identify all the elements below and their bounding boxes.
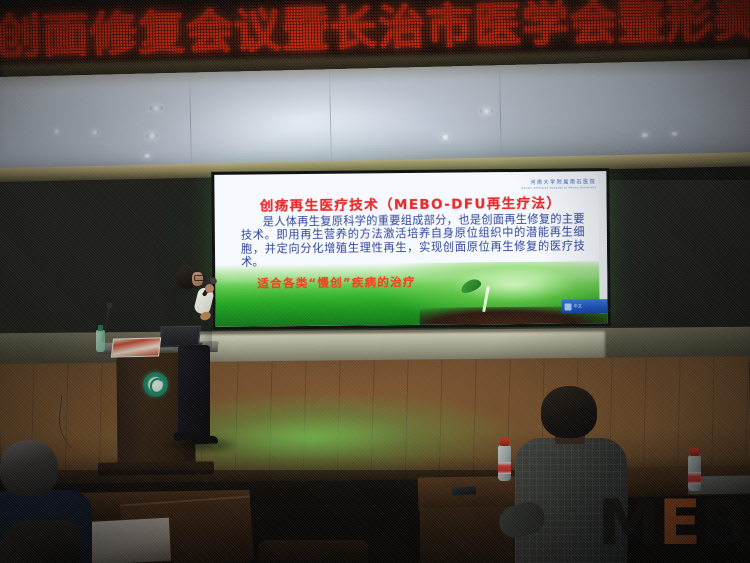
- podium-water-bottle: [96, 330, 105, 352]
- speaker-glasses-icon: [194, 275, 206, 281]
- watermark-e: E: [659, 492, 700, 554]
- speaker-shoe: [192, 436, 218, 445]
- attendee-far-left: [0, 520, 80, 563]
- ceiling-downlight-icon: [670, 132, 678, 136]
- bottle-cap: [500, 438, 509, 446]
- slide-highlight-text: 适合各类“慢创”疾病的治疗: [257, 274, 416, 292]
- bottle-cap: [690, 448, 699, 456]
- bottle-label: [688, 472, 701, 484]
- mebo-watermark: M E BO: [598, 492, 750, 554]
- watermark-m: M: [598, 492, 659, 554]
- presentation-slide: 河南大学附属南石医院 Nanshi Affiliated Hospital of…: [214, 171, 607, 327]
- smartphone-icon[interactable]: [452, 486, 476, 496]
- taskbar-label: 中文: [574, 303, 583, 309]
- podium-name-card: [111, 337, 161, 357]
- slide-title: 创疡再生医疗技术（MEBO-DFU再生疗法）: [214, 191, 606, 215]
- taskbar-ime-icon[interactable]: [565, 303, 572, 310]
- attendee-head: [0, 440, 58, 496]
- speaker-hand: [205, 284, 214, 293]
- hospital-logo-english: Nanshi Affiliated Hospital of Henan Univ…: [521, 186, 596, 190]
- slide-right-margin: [598, 171, 607, 313]
- hospital-emblem-icon: [143, 372, 168, 397]
- speaker-legs: [178, 345, 210, 437]
- hospital-logo-chinese: 河南大学附属南石医院: [530, 178, 596, 186]
- ceiling-downlight-icon: [640, 132, 649, 137]
- watermark-bo: BO: [700, 492, 750, 554]
- projection-screen: 河南大学附属南石医院 Nanshi Affiliated Hospital of…: [211, 168, 610, 330]
- chair-back: [258, 540, 368, 563]
- hospital-logo: 河南大学附属南石医院 Nanshi Affiliated Hospital of…: [524, 177, 596, 191]
- water-bottle: [498, 445, 511, 481]
- attendee-head: [541, 386, 597, 438]
- ceiling-downlight-icon: [90, 130, 99, 135]
- conference-photo: 创面修复会议暨长治市医学会整形美容专业委 河南大学附属南石医院 Nanshi A…: [0, 0, 750, 563]
- slide-body-text: 是人体再生复原科学的重要组成部分，也是创面再生修复的主要技术。即用再生营养的方法…: [241, 212, 585, 269]
- bottle-label: [498, 462, 511, 474]
- windows-taskbar[interactable]: 中文: [561, 299, 607, 313]
- ceiling-downlight-icon: [52, 129, 61, 134]
